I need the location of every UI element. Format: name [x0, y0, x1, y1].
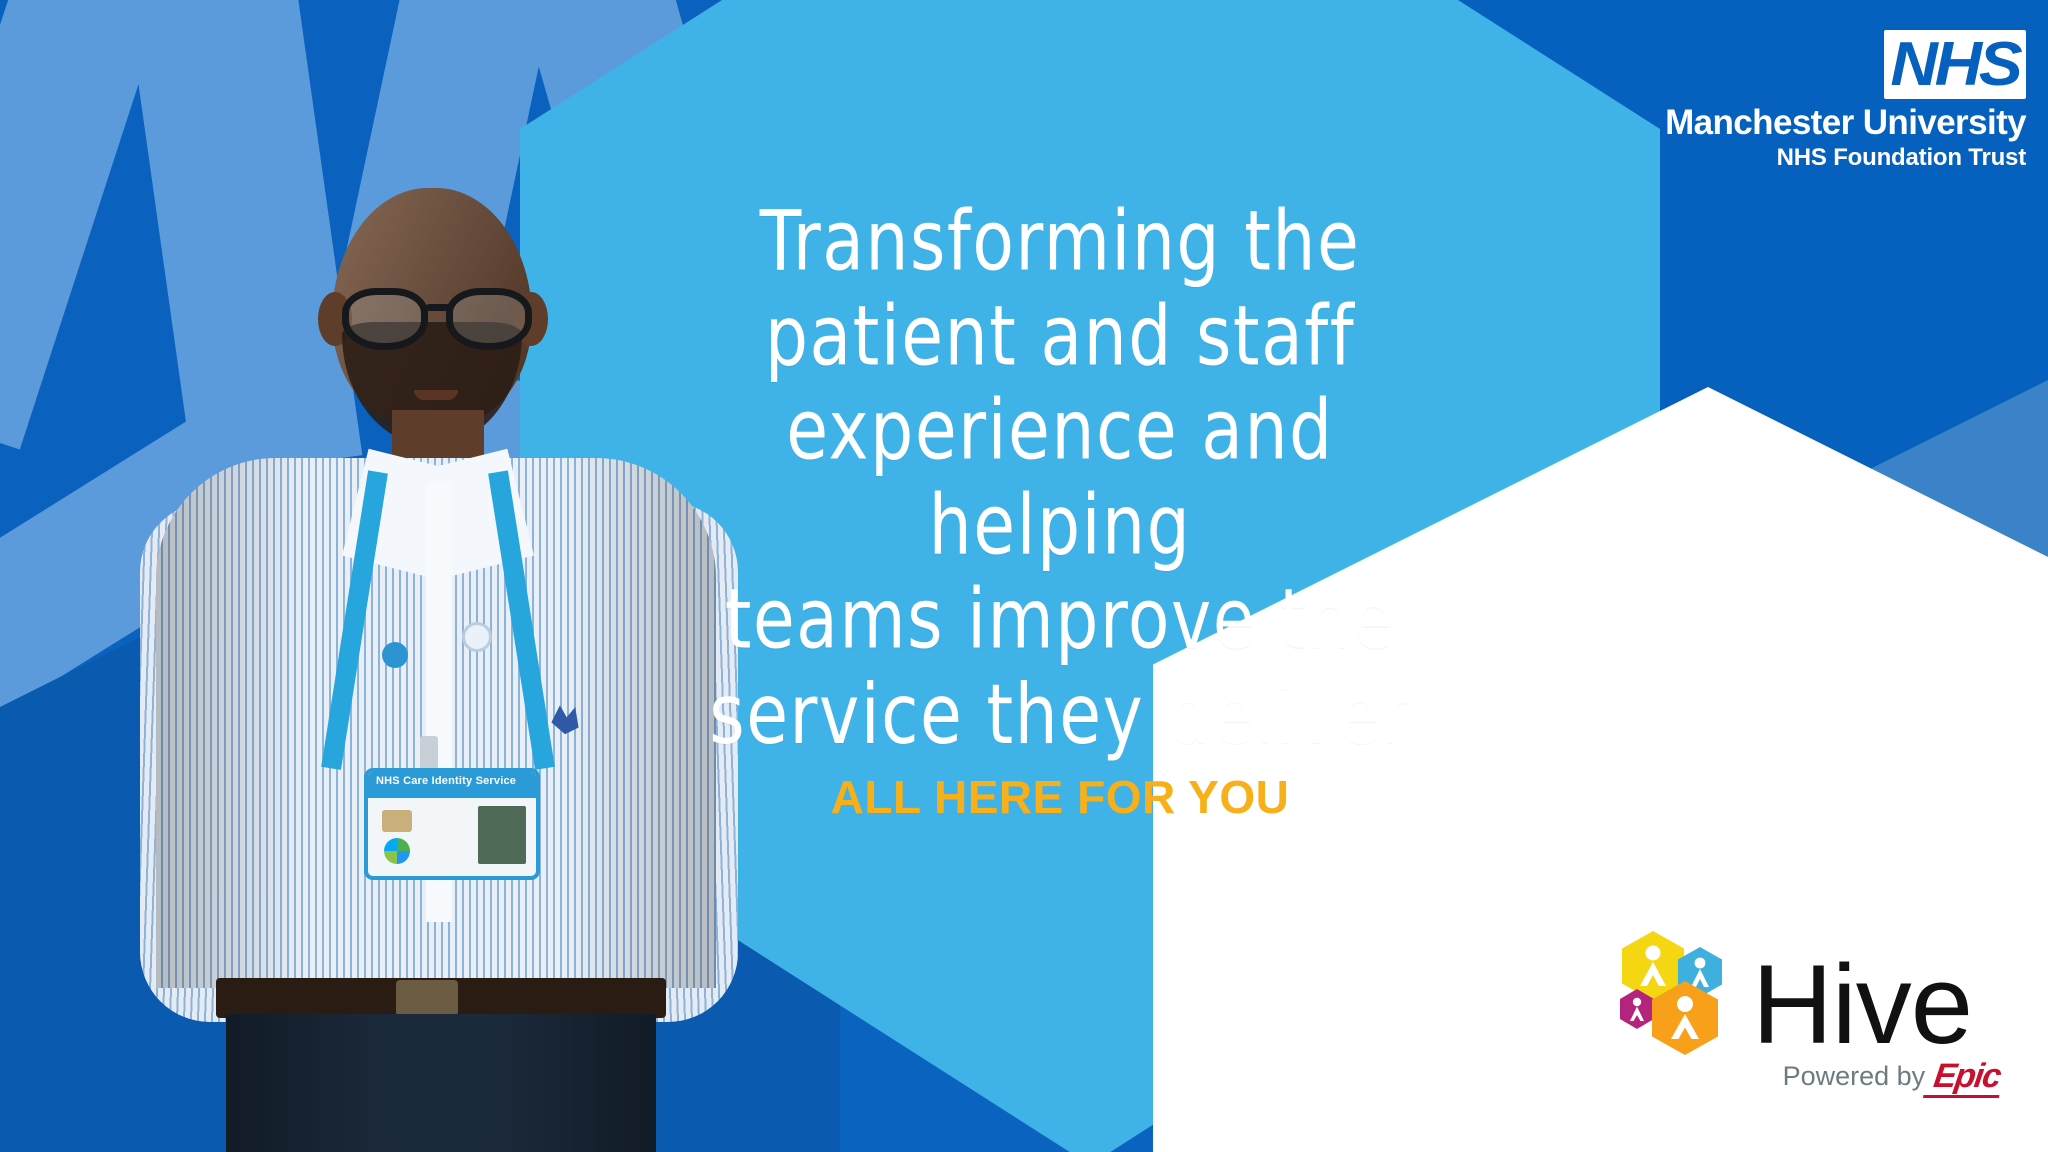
kicker-text: ALL HERE FOR YOU [700, 770, 1420, 824]
photo-glasses-right-lens [446, 288, 532, 350]
headline-text: Transforming the patient and staff exper… [700, 195, 1420, 762]
hive-logo: Hive Powered by Epic [1620, 929, 2000, 1096]
nhs-logo-text: NHS [1890, 34, 2019, 96]
photo-id-badge-chip [382, 810, 412, 832]
hive-hex-cluster-icon [1620, 929, 1746, 1047]
nhs-logo-mark: NHS [1884, 30, 2026, 99]
photo-lanyard-pin-blue [382, 642, 408, 668]
photo-id-badge-portrait [478, 806, 526, 864]
photo-shirt-shading-right [566, 458, 716, 988]
epic-logo: Epic [1931, 1057, 2002, 1096]
hive-powered-by: Powered by Epic [1620, 1057, 2000, 1096]
photo-glasses-bridge [426, 304, 450, 311]
photo-id-badge-title: NHS Care Identity Service [376, 775, 536, 787]
photo-shirt-badge-pin [462, 622, 492, 652]
hive-logo-row: Hive [1620, 929, 2000, 1053]
hive-powered-by-label: Powered by [1783, 1061, 1926, 1092]
headline-block: Transforming the patient and staff exper… [700, 195, 1420, 660]
hero-banner: NHS Care Identity Service NHS Manchester… [0, 0, 2048, 1152]
trust-subtitle: NHS Foundation Trust [1606, 145, 2026, 170]
trust-name: Manchester University [1606, 105, 2026, 142]
photo-shirt-shading-left [156, 458, 306, 988]
staff-member-photo: NHS Care Identity Service [96, 142, 776, 1152]
photo-glasses-left-lens [342, 288, 428, 350]
hive-wordmark: Hive [1752, 957, 1972, 1053]
photo-mouth [414, 390, 458, 400]
photo-belt-buckle [396, 980, 458, 1016]
nhs-trust-logo: NHS Manchester University NHS Foundation… [1606, 30, 2026, 170]
photo-trousers-shading [226, 1014, 656, 1152]
photo-id-badge-logo-icon [384, 838, 410, 864]
